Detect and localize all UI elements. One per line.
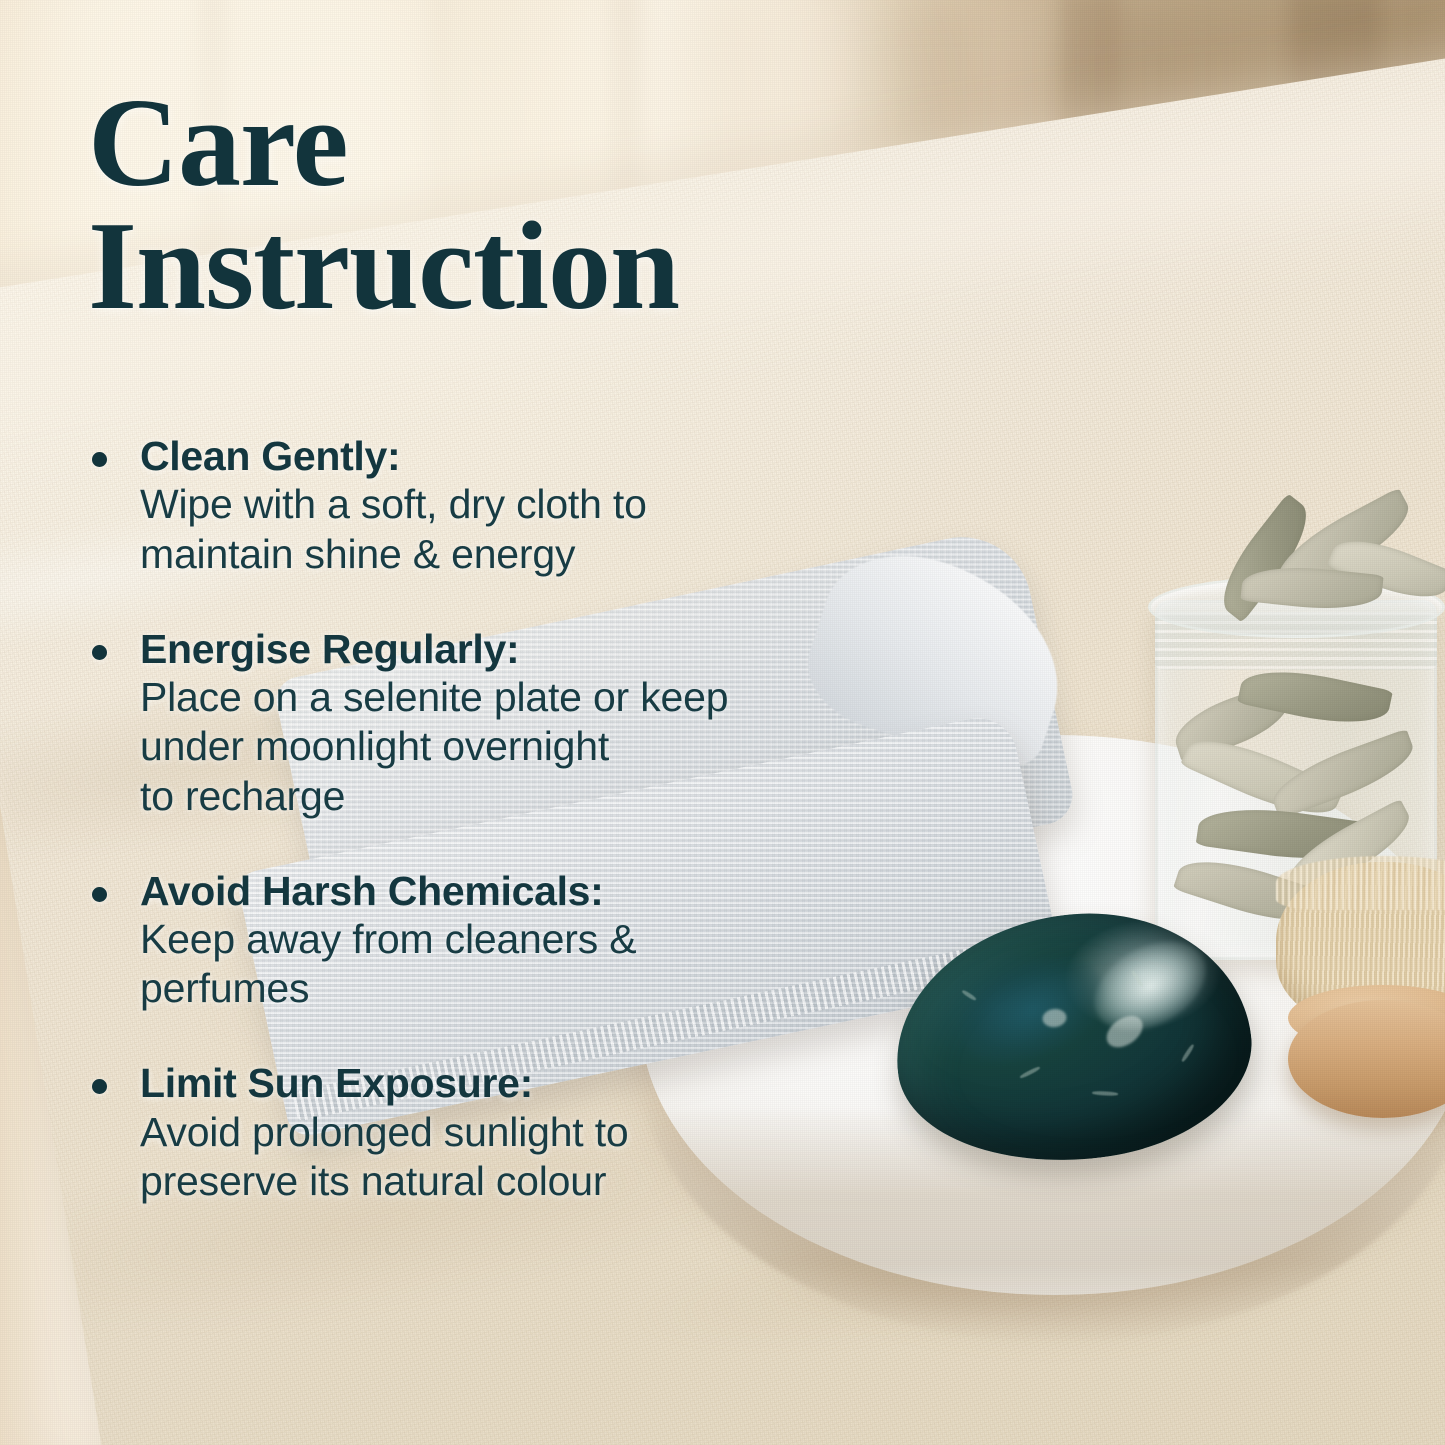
list-item: Clean Gently: Wipe with a soft, dry clot… — [78, 432, 978, 579]
bullet-dot-icon — [92, 452, 107, 467]
page-title: Care Instruction — [88, 82, 808, 329]
list-item-body: Place on a selenite plate or keep under … — [140, 673, 978, 821]
care-instruction-list: Clean Gently: Wipe with a soft, dry clot… — [78, 432, 978, 1206]
list-item-body: Wipe with a soft, dry cloth to maintain … — [140, 480, 978, 578]
title-line-1: Care — [88, 74, 348, 213]
list-item-body: Avoid prolonged sunlight to preserve its… — [140, 1108, 978, 1206]
list-item: Energise Regularly: Place on a selenite … — [78, 625, 978, 821]
bullet-dot-icon — [92, 1079, 107, 1094]
list-item: Avoid Harsh Chemicals: Keep away from cl… — [78, 867, 978, 1014]
bullet-dot-icon — [92, 887, 107, 902]
list-item-body: Keep away from cleaners & perfumes — [140, 915, 978, 1013]
poster-content: Care Instruction Clean Gently: Wipe with… — [0, 0, 1445, 1445]
list-item-heading: Avoid Harsh Chemicals: — [140, 867, 978, 915]
list-item-heading: Limit Sun Exposure: — [140, 1059, 978, 1107]
care-instruction-poster: Care Instruction Clean Gently: Wipe with… — [0, 0, 1445, 1445]
title-line-2: Instruction — [88, 205, 808, 328]
list-item: Limit Sun Exposure: Avoid prolonged sunl… — [78, 1059, 978, 1206]
bullet-dot-icon — [92, 645, 107, 660]
list-item-heading: Energise Regularly: — [140, 625, 978, 673]
list-item-heading: Clean Gently: — [140, 432, 978, 480]
